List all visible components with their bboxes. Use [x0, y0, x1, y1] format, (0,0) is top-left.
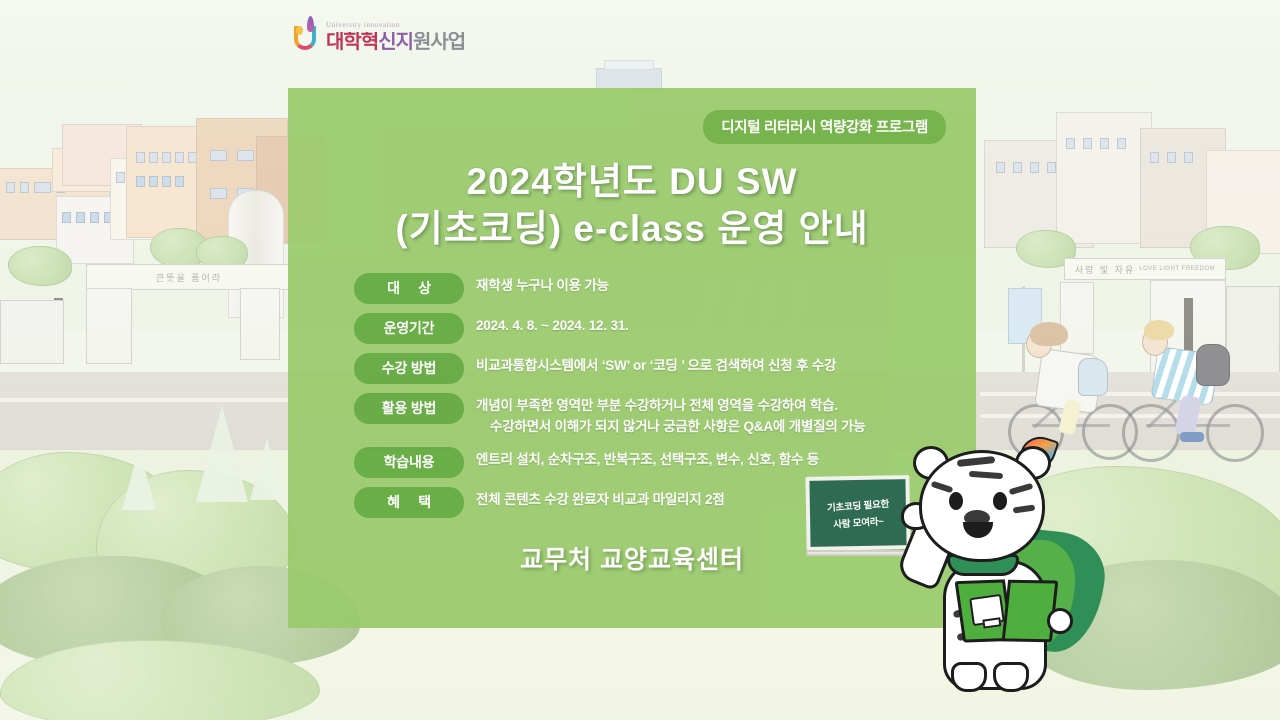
- blackboard-line-2: 사람 모여라~: [832, 513, 883, 530]
- window: [210, 150, 227, 161]
- window: [264, 188, 281, 199]
- bike-frame: [1032, 424, 1110, 427]
- building-block: [984, 140, 1094, 248]
- banner-flag: [1008, 288, 1042, 344]
- blackboard-line-1: 기초코딩 필요한: [826, 495, 889, 513]
- window: [1066, 138, 1075, 149]
- bush-cluster: [96, 470, 296, 600]
- cylinder-building: [228, 190, 284, 318]
- road-line: [0, 398, 300, 402]
- window: [6, 182, 15, 193]
- right-gate-text-ko: 사랑 빛 자유: [1075, 263, 1135, 276]
- bike-frame: [1033, 389, 1077, 429]
- window: [76, 212, 85, 223]
- conifer-tree: [196, 406, 248, 502]
- banner-pole: [1022, 286, 1025, 372]
- window: [1083, 138, 1092, 149]
- window: [162, 152, 171, 163]
- cyclist-back: [1122, 296, 1280, 472]
- building-block: [0, 168, 110, 240]
- info-row-label: 혜 택: [354, 487, 464, 518]
- window-row: [210, 150, 281, 161]
- title-line-1: 2024학년도 DU SW: [304, 158, 960, 205]
- blackboard-stand: [806, 550, 910, 556]
- computer-monitor-icon: [969, 594, 1005, 626]
- tree: [8, 246, 72, 286]
- window: [188, 152, 197, 163]
- window: [20, 182, 29, 193]
- window-row: [6, 182, 65, 193]
- building-block: [604, 60, 654, 70]
- left-gate-base: [0, 300, 64, 364]
- left-gate-beam: 큰뜻을 품어라: [86, 264, 292, 290]
- left-gate-plaque: [54, 298, 63, 352]
- info-row-label: 학습내용: [354, 447, 464, 478]
- window: [1030, 162, 1039, 173]
- right-gate-beam: 사랑 빛 자유 LOVE LIGHT FREEDOM: [1064, 258, 1226, 280]
- window: [1150, 152, 1159, 163]
- logo-subtitle: University innovation: [326, 22, 465, 29]
- info-row-label: 대 상: [354, 273, 464, 304]
- bush-cluster: [0, 640, 320, 720]
- info-row-value-line: 수강하면서 이해가 되지 않거나 궁금한 사항은 Q&A에 개별질의 가능: [476, 417, 866, 438]
- left-gate-pillar: [240, 288, 280, 360]
- bush-cluster: [0, 452, 180, 572]
- info-row-value: 엔트리 설치, 순차구조, 반복구조, 선택구조, 변수, 신호, 함수 등: [476, 447, 819, 471]
- info-row-value: 전체 콘텐츠 수강 완료자 비교과 마일리지 2점: [476, 487, 725, 511]
- window: [116, 172, 125, 183]
- info-row-value: 재학생 누구나 이용 가능: [476, 273, 609, 297]
- info-row: 학습내용엔트리 설치, 순차구조, 반복구조, 선택구조, 변수, 신호, 함수…: [354, 447, 960, 478]
- window-row: [996, 162, 1056, 173]
- building-block: [1140, 128, 1226, 248]
- info-row-value-line: 전체 콘텐츠 수강 완료자 비교과 마일리지 2점: [476, 490, 725, 511]
- tree: [1016, 230, 1076, 268]
- window: [136, 176, 145, 187]
- window-row: [116, 172, 153, 183]
- info-row-value-line: 개념이 부족한 영역만 부분 수강하거나 전체 영역을 수강하여 학습.: [476, 396, 866, 417]
- left-gate-pillar: [86, 288, 132, 364]
- info-row: 활용 방법개념이 부족한 영역만 부분 수강하거나 전체 영역을 수강하여 학습…: [354, 393, 960, 438]
- rider-shoe: [1180, 432, 1204, 442]
- rider-head: [1026, 330, 1052, 358]
- window: [34, 182, 51, 193]
- right-gate-pillar: [1060, 282, 1094, 354]
- window: [237, 188, 254, 199]
- window: [162, 176, 171, 187]
- conifer-tree: [122, 448, 156, 510]
- building-block: [1206, 150, 1280, 254]
- window: [175, 176, 184, 187]
- bike-wheel: [1206, 404, 1264, 462]
- building-block: [110, 158, 166, 240]
- tree: [1190, 226, 1260, 270]
- window: [1047, 162, 1056, 173]
- info-row: 운영기간2024. 4. 8. ~ 2024. 12. 31.: [354, 313, 960, 344]
- rider-torso: [1034, 348, 1103, 414]
- right-gate-wall: [1226, 286, 1280, 386]
- poster-root: 큰뜻을 품어라 사랑 빛 자유 LOVE LIGHT FREEDOM: [0, 0, 1280, 720]
- title-line-2: (기초코딩) e-class 운영 안내: [304, 205, 960, 252]
- window-row: [136, 152, 210, 163]
- mascot-leg-left: [951, 662, 987, 692]
- window: [104, 212, 113, 223]
- grass-field: [250, 620, 1280, 720]
- window: [149, 152, 158, 163]
- window: [130, 172, 139, 183]
- building-block: [1056, 112, 1152, 244]
- logo-title: 대학혁신지원사업: [326, 32, 465, 52]
- program-badge-row: 디지털 리터러시 역량강화 프로그램: [304, 110, 960, 144]
- window: [62, 212, 71, 223]
- mascot-leg-right: [993, 662, 1029, 692]
- info-row-value-line: 비교과통합시스템에서 ‘SW’ or ‘코딩 ’ 으로 검색하여 신청 후 수강: [476, 356, 836, 377]
- window: [56, 182, 65, 193]
- logo-text-wrap: University innovation 대학혁신지원사업: [326, 22, 465, 52]
- info-row-value-line: 엔트리 설치, 순차구조, 반복구조, 선택구조, 변수, 신호, 함수 등: [476, 450, 819, 471]
- info-row: 대 상재학생 누구나 이용 가능: [354, 273, 960, 304]
- window-row: [136, 176, 184, 187]
- rider-leg: [1174, 394, 1202, 437]
- logo-dot-shape: [296, 26, 303, 35]
- window: [175, 152, 184, 163]
- mascot-eye-left: [949, 492, 963, 510]
- right-gate-text-en: LOVE LIGHT FREEDOM: [1139, 266, 1215, 272]
- rider-backpack: [1078, 358, 1108, 396]
- tree: [196, 236, 248, 270]
- info-row-value: 개념이 부족한 영역만 부분 수강하거나 전체 영역을 수강하여 학습.수강하면…: [476, 393, 866, 438]
- window: [90, 212, 99, 223]
- mascot-hand: [1047, 608, 1073, 634]
- blackboard: 기초코딩 필요한 사람 모여라~: [805, 475, 910, 551]
- rider-hair: [1030, 322, 1068, 346]
- window-row: [62, 212, 113, 223]
- window: [1117, 138, 1126, 149]
- logo-flame-shape: [307, 16, 314, 32]
- bike-frame: [1146, 424, 1230, 427]
- info-row-label: 활용 방법: [354, 393, 464, 424]
- building-block: [56, 196, 134, 264]
- info-row-label: 운영기간: [354, 313, 464, 344]
- bike-wheel: [1122, 404, 1180, 462]
- bush-cluster-dark: [0, 556, 240, 666]
- rider-torso-striped: [1151, 346, 1220, 406]
- mascot-eye-right: [993, 492, 1007, 510]
- window: [1100, 138, 1109, 149]
- window: [136, 152, 145, 163]
- window: [149, 176, 158, 187]
- road-line: [980, 414, 1280, 418]
- left-gate-text: 큰뜻을 품어라: [156, 271, 222, 284]
- window: [144, 172, 153, 183]
- info-row-value: 비교과통합시스템에서 ‘SW’ or ‘코딩 ’ 으로 검색하여 신청 후 수강: [476, 353, 836, 377]
- rider-backpack: [1196, 344, 1230, 386]
- window-row: [1066, 138, 1126, 149]
- right-gate-plaque: [1184, 298, 1193, 354]
- rider-hair: [1144, 320, 1174, 340]
- window: [996, 162, 1005, 173]
- info-row: 수강 방법비교과통합시스템에서 ‘SW’ or ‘코딩 ’ 으로 검색하여 신청…: [354, 353, 960, 384]
- page-title: 2024학년도 DU SW (기초코딩) e-class 운영 안내: [304, 158, 960, 253]
- rider-head: [1142, 328, 1168, 356]
- rider-leg: [1058, 399, 1082, 436]
- window: [264, 150, 281, 161]
- window: [1167, 152, 1176, 163]
- building-block: [126, 126, 242, 238]
- window: [201, 152, 210, 163]
- info-row-label: 수강 방법: [354, 353, 464, 384]
- university-innovation-logo: University innovation 대학혁신지원사업: [294, 16, 465, 52]
- window-row: [1150, 152, 1193, 163]
- window: [1184, 152, 1193, 163]
- right-gate-pillar: [1150, 280, 1226, 388]
- window: [1013, 162, 1022, 173]
- info-row-value-line: 2024. 4. 8. ~ 2024. 12. 31.: [476, 316, 629, 337]
- program-badge: 디지털 리터러시 역량강화 프로그램: [703, 110, 946, 144]
- window: [210, 188, 227, 199]
- building-block: [62, 124, 142, 186]
- tree: [150, 228, 208, 268]
- conifer-tree: [250, 438, 284, 500]
- window-row: [210, 188, 281, 199]
- window: [237, 150, 254, 161]
- white-tiger-mascot: [905, 440, 1115, 710]
- building-block: [196, 118, 288, 244]
- building-block: [52, 148, 112, 192]
- bike-frame: [1147, 386, 1191, 428]
- info-row-value: 2024. 4. 8. ~ 2024. 12. 31.: [476, 313, 629, 337]
- u-flame-logo-icon: [294, 16, 320, 52]
- road-line: [980, 392, 1280, 396]
- info-row-value-line: 재학생 누구나 이용 가능: [476, 276, 609, 297]
